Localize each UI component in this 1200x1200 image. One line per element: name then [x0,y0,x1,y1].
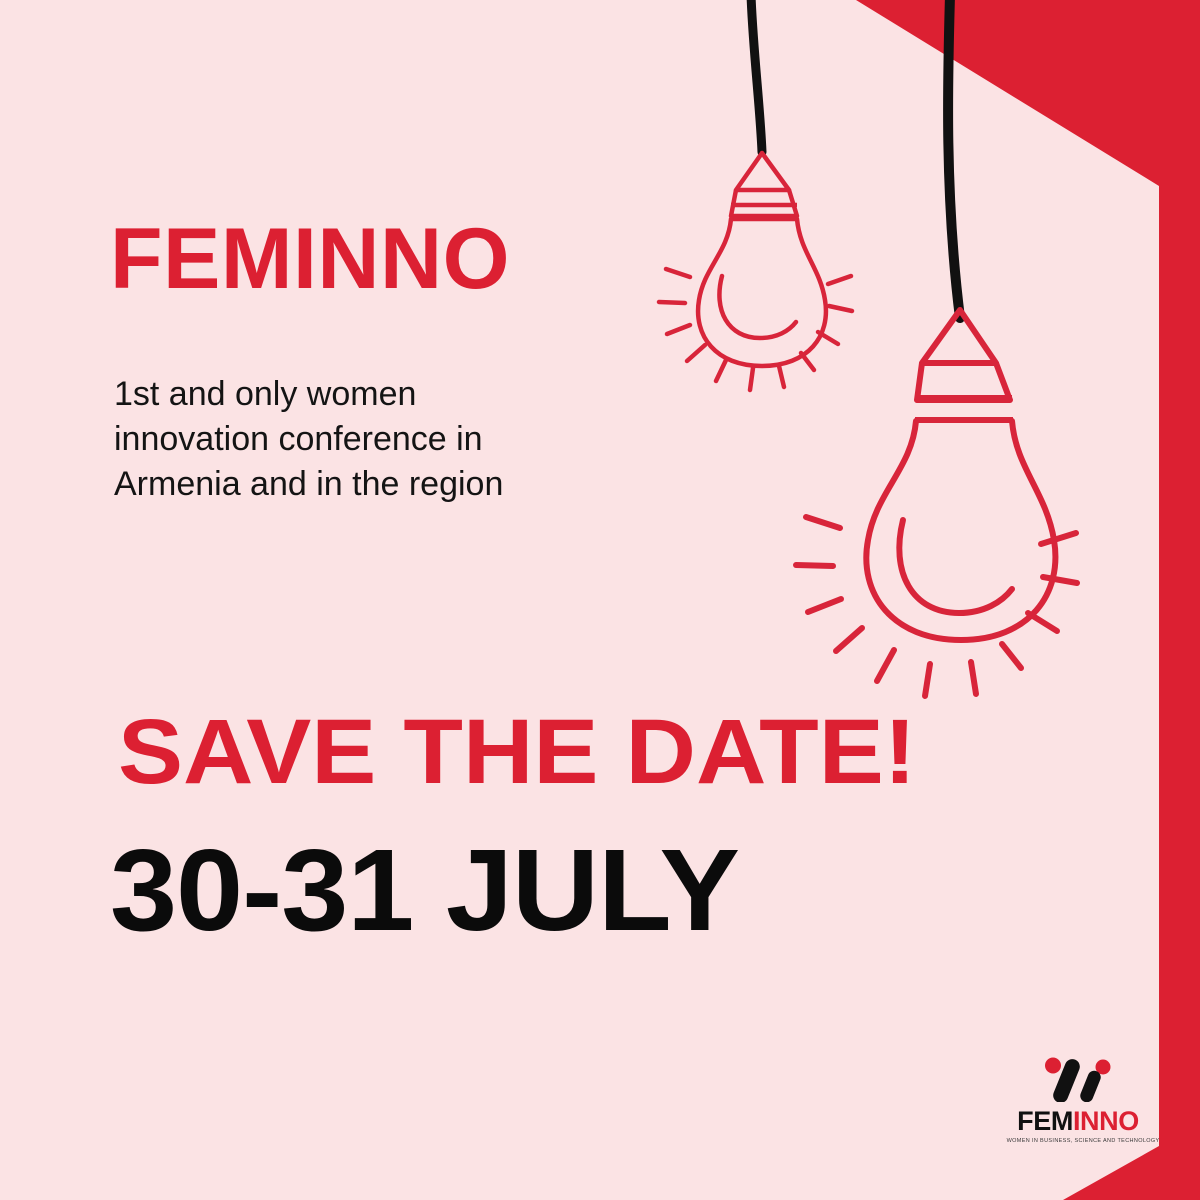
bulb-filament-large [899,520,1012,613]
logo-mark-icon [1041,1056,1115,1102]
lightbulb-illustration-small [659,0,852,390]
tagline-line-3: Armenia and in the region [114,462,674,507]
logo-word-fem: FEM [1017,1106,1073,1136]
tagline-line-2: innovation conference in [114,417,674,462]
logo-word-inno: INNO [1073,1106,1139,1136]
poster-artwork [0,0,1200,1200]
tagline-block: 1st and only women innovation conference… [114,372,674,508]
page-title: FEMINNO [110,216,510,302]
logo-subtitle: WOMEN IN BUSINESS, SCIENCE AND TECHNOLOG… [1007,1139,1150,1144]
logo-wordmark: FEMINNO [1008,1108,1148,1135]
logo-bar-right-icon [1078,1069,1102,1102]
poster-canvas: FEMINNO 1st and only women innovation co… [0,0,1200,1200]
bulb-cord-small [751,0,762,152]
red-angled-corner-shape [856,0,1200,1200]
bulb-cap-small [736,153,789,190]
save-the-date-heading: SAVE THE DATE! [118,706,916,798]
bulb-filament-small [719,276,796,338]
event-dates: 30-31 JULY [110,832,739,948]
logo-dot-left-icon [1045,1058,1061,1074]
bulb-glass-large [866,421,1055,640]
feminno-logo: FEMINNO WOMEN IN BUSINESS, SCIENCE AND T… [1008,1056,1148,1144]
tagline-line-1: 1st and only women [114,372,674,417]
bulb-neck-large [917,363,1010,400]
